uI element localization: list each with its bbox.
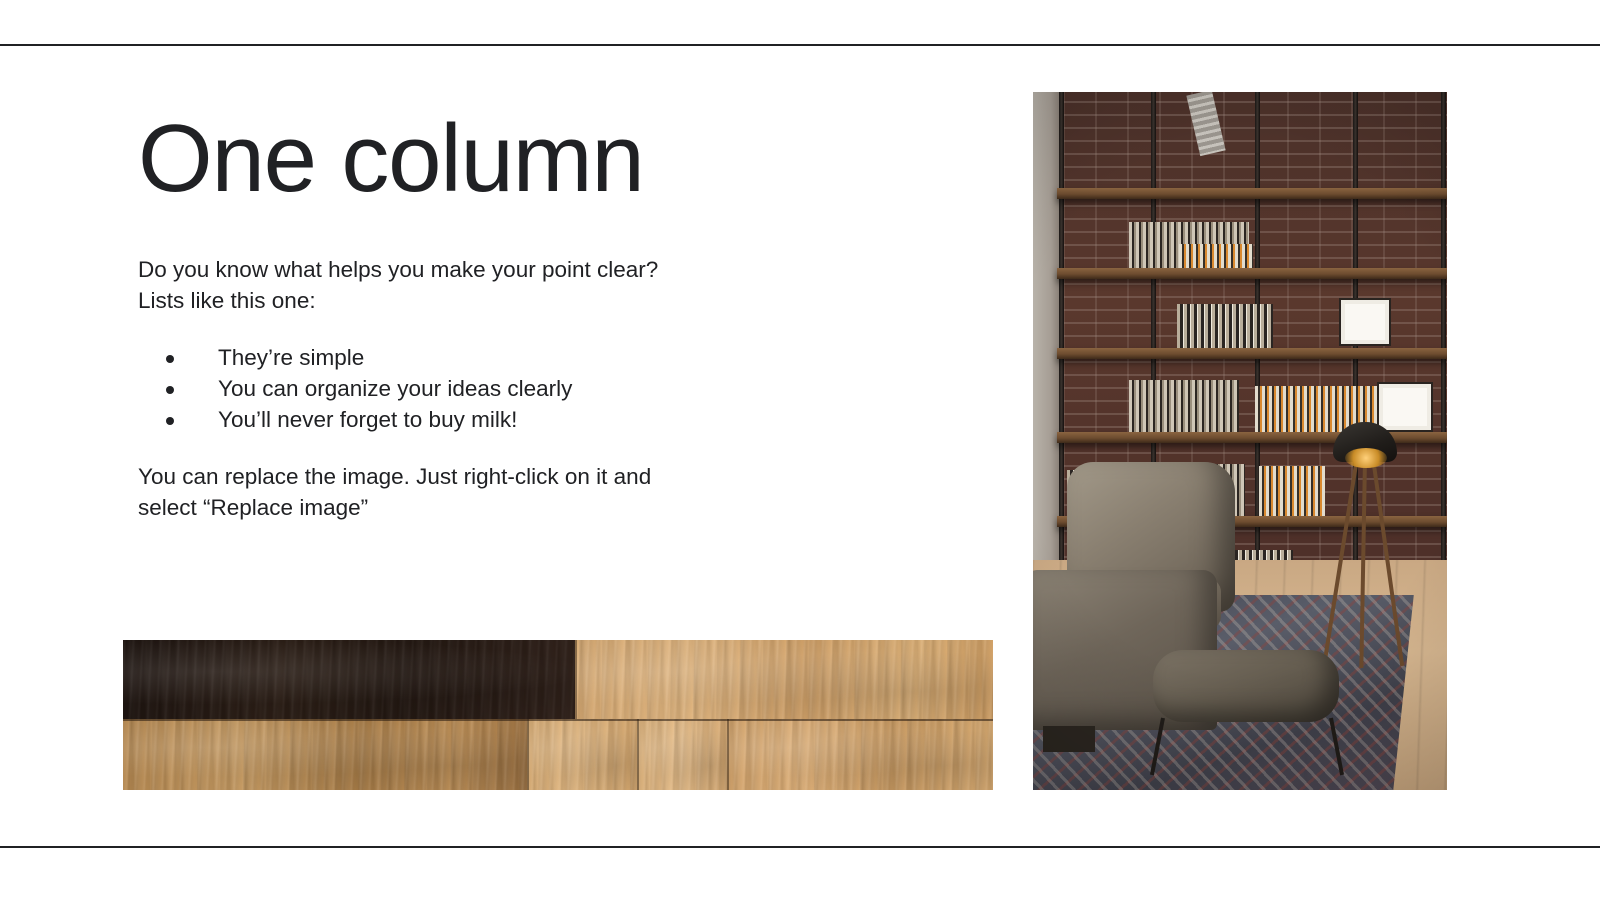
plank-seam-vertical bbox=[575, 640, 577, 719]
shelf-board bbox=[1057, 268, 1447, 279]
plank-seam-vertical bbox=[527, 719, 529, 790]
intro-line-2: Lists like this one: bbox=[138, 285, 778, 316]
bottom-divider-rule bbox=[0, 846, 1600, 848]
book-row bbox=[1259, 466, 1325, 516]
intro-paragraph[interactable]: Do you know what helps you make your poi… bbox=[138, 254, 778, 316]
framed-artwork bbox=[1377, 382, 1433, 432]
bullet-dot-icon bbox=[166, 386, 174, 394]
leather-ottoman bbox=[1153, 650, 1339, 722]
list-item[interactable]: You’ll never forget to buy milk! bbox=[138, 404, 918, 435]
slide-title[interactable]: One column bbox=[138, 108, 918, 210]
top-divider-rule bbox=[0, 44, 1600, 46]
wood-plank-medium-2 bbox=[527, 719, 637, 790]
plank-seam-horizontal bbox=[123, 719, 993, 721]
list-item-label: You can organize your ideas clearly bbox=[218, 376, 572, 401]
list-item[interactable]: You can organize your ideas clearly bbox=[138, 373, 918, 404]
sofa-leg bbox=[1043, 726, 1095, 752]
wood-plank-light-oak bbox=[575, 640, 993, 719]
intro-line-1: Do you know what helps you make your poi… bbox=[138, 254, 778, 285]
wood-plank-flooring-photo[interactable] bbox=[123, 640, 993, 790]
wood-plank-row-top bbox=[123, 640, 993, 719]
bullet-dot-icon bbox=[166, 355, 174, 363]
list-item[interactable]: They’re simple bbox=[138, 342, 918, 373]
outro-paragraph[interactable]: You can replace the image. Just right-cl… bbox=[138, 461, 778, 523]
outro-line-2: select “Replace image” bbox=[138, 492, 778, 523]
wood-plank-medium-3 bbox=[637, 719, 727, 790]
framed-artwork bbox=[1339, 298, 1391, 346]
list-item-label: They’re simple bbox=[218, 345, 364, 370]
plank-seam-vertical bbox=[637, 719, 639, 790]
list-item-label: You’ll never forget to buy milk! bbox=[218, 407, 517, 432]
book-row bbox=[1129, 380, 1239, 432]
bullet-dot-icon bbox=[166, 417, 174, 425]
shelf-board bbox=[1057, 348, 1447, 359]
floor-lamp-glow bbox=[1345, 448, 1387, 468]
text-content-column: One column Do you know what helps you ma… bbox=[138, 108, 918, 523]
outro-line-1: You can replace the image. Just right-cl… bbox=[138, 461, 778, 492]
wood-plank-medium-1 bbox=[123, 719, 527, 790]
wood-plank-row-bottom bbox=[123, 719, 993, 790]
wood-plank-dark bbox=[123, 640, 575, 719]
book-row bbox=[1179, 244, 1253, 268]
slide: One column Do you know what helps you ma… bbox=[0, 0, 1600, 900]
bullet-list[interactable]: They’re simple You can organize your ide… bbox=[138, 342, 918, 435]
wood-plank-medium-4 bbox=[727, 719, 993, 790]
shelf-board bbox=[1057, 188, 1447, 199]
industrial-bookshelf-living-room-photo[interactable] bbox=[1033, 92, 1447, 790]
plank-seam-vertical bbox=[727, 719, 729, 790]
book-row bbox=[1177, 304, 1273, 348]
